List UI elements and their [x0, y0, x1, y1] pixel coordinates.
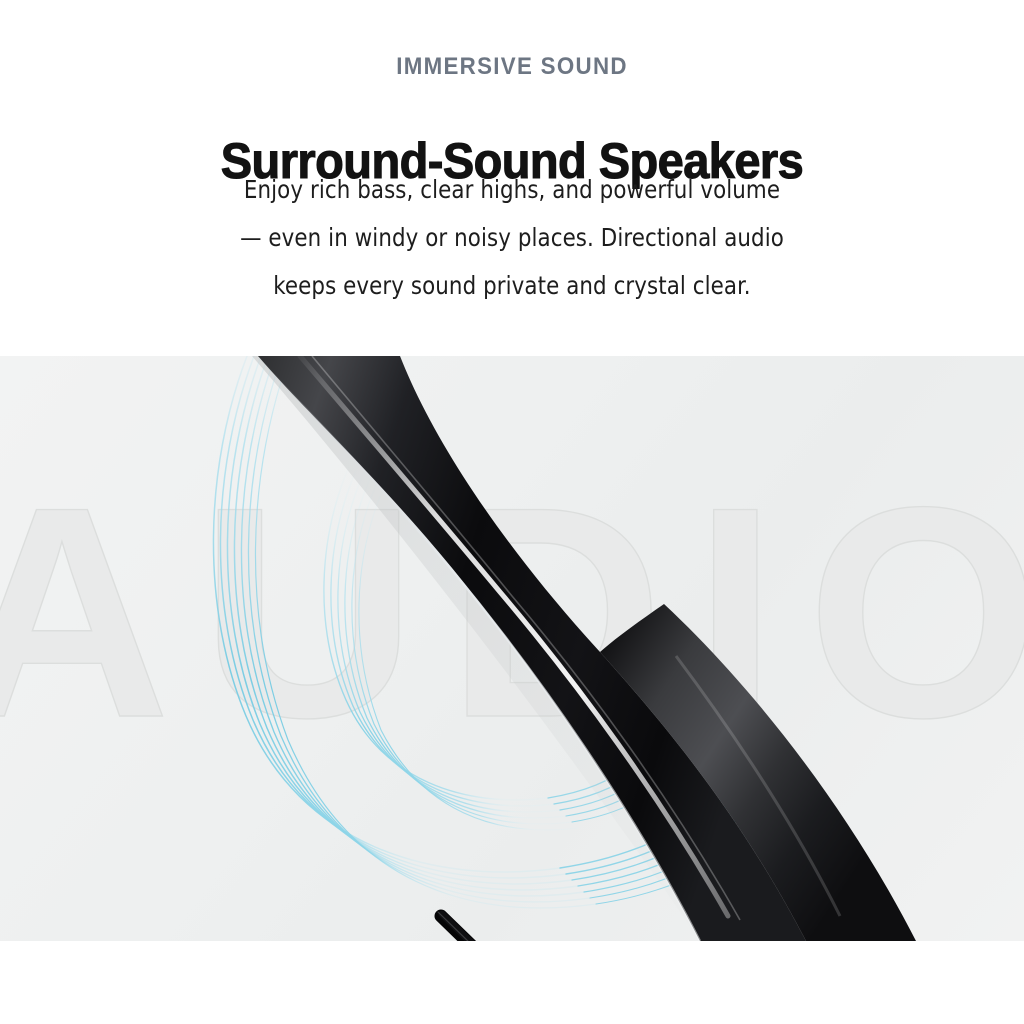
speaker-grille-slot	[438, 912, 544, 941]
eyebrow-label: IMMERSIVE SOUND	[36, 52, 988, 82]
description-line-3: keeps every sound private and crystal cl…	[189, 262, 835, 310]
description-line-2: — even in windy or noisy places. Directi…	[189, 214, 835, 262]
smart-glasses-temple-device	[0, 356, 1024, 941]
product-image-panel: AUDIO	[0, 356, 1024, 941]
product-feature-page: IMMERSIVE SOUND Surround-Sound Speakers …	[0, 0, 1024, 1024]
feature-description: Enjoy rich bass, clear highs, and powerf…	[189, 166, 835, 310]
product-image-stage: AUDIO	[0, 356, 1024, 941]
feature-text-block: IMMERSIVE SOUND Surround-Sound Speakers …	[0, 0, 1024, 356]
description-line-1: Enjoy rich bass, clear highs, and powerf…	[189, 166, 835, 214]
bottom-whitespace	[0, 941, 1024, 1024]
